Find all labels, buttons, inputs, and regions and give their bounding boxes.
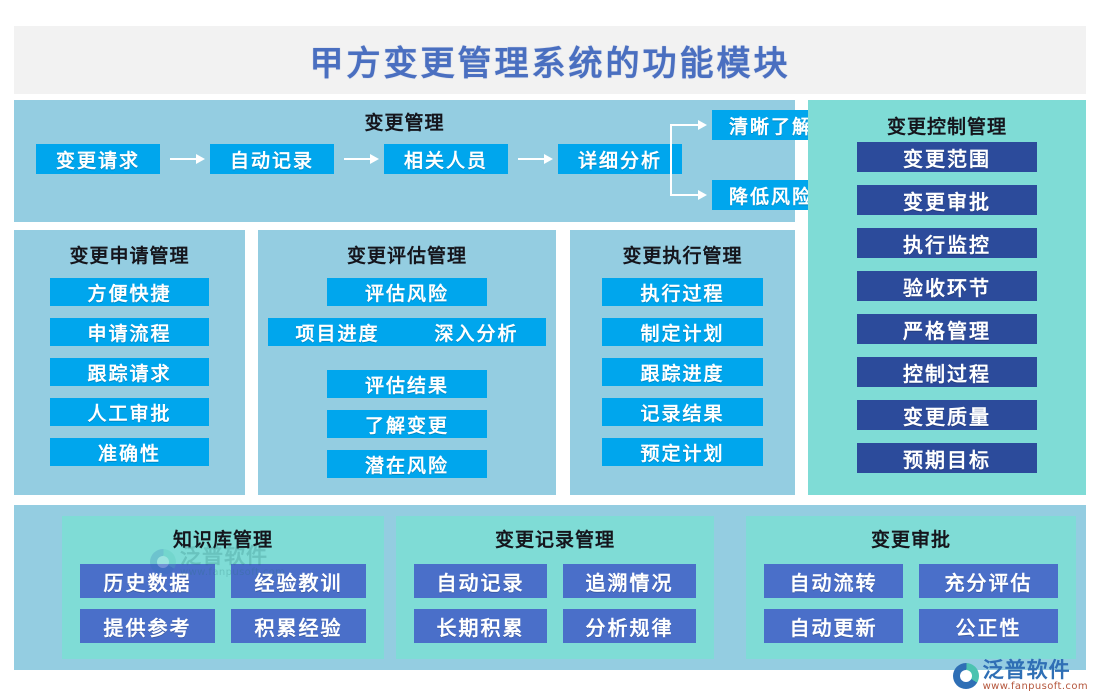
flow-arrow-1-head — [196, 154, 205, 164]
change-approval-panel: 变更审批 自动流转 充分评估 自动更新 公正性 — [746, 516, 1076, 659]
exec-item[interactable]: 执行过程 — [602, 278, 763, 306]
flow-arrow-3-line — [518, 158, 545, 160]
kb-item-grid: 历史数据 经验教训 提供参考 积累经验 — [80, 564, 366, 643]
kb-item[interactable]: 经验教训 — [231, 564, 366, 598]
bottom-band: 知识库管理 历史数据 经验教训 提供参考 积累经验 变更记录管理 自动记录 追溯… — [14, 505, 1086, 670]
exec-item-list: 执行过程 制定计划 跟踪进度 记录结果 预定计划 — [570, 278, 795, 478]
appr-item[interactable]: 自动流转 — [764, 564, 903, 598]
apply-item[interactable]: 准确性 — [50, 438, 209, 466]
change-request-panel: 变更申请管理 方便快捷 申请流程 跟踪请求 人工审批 准确性 — [14, 230, 245, 495]
watermark-url: www.fanpusoft.com — [983, 682, 1088, 692]
change-record-panel: 变更记录管理 自动记录 追溯情况 长期积累 分析规律 — [396, 516, 714, 659]
change-management-flow-panel: 变更管理 变更请求 自动记录 相关人员 详细分析 清晰了解 降低风险 — [14, 100, 795, 222]
control-panel-title: 变更控制管理 — [808, 112, 1086, 139]
flow-step-3[interactable]: 相关人员 — [384, 144, 508, 174]
control-item[interactable]: 预期目标 — [857, 443, 1037, 473]
branch-arrow-head-down — [698, 190, 707, 200]
appr-item[interactable]: 自动更新 — [764, 609, 903, 643]
control-item[interactable]: 执行监控 — [857, 228, 1037, 258]
kb-item[interactable]: 历史数据 — [80, 564, 215, 598]
apply-item[interactable]: 申请流程 — [50, 318, 209, 346]
branch-arrow-head-up — [698, 120, 707, 130]
change-assessment-panel: 变更评估管理 评估风险 项目进度 深入分析 评估结果 了解变更 潜在风险 — [258, 230, 556, 495]
rec-item[interactable]: 追溯情况 — [563, 564, 696, 598]
change-execution-panel: 变更执行管理 执行过程 制定计划 跟踪进度 记录结果 预定计划 — [570, 230, 795, 495]
branch-horizontal-down — [670, 194, 700, 196]
rec-item[interactable]: 分析规律 — [563, 609, 696, 643]
assess-panel-title: 变更评估管理 — [258, 230, 556, 268]
assess-item[interactable]: 潜在风险 — [327, 450, 487, 478]
title-band: 甲方变更管理系统的功能模块 — [14, 26, 1086, 94]
infographic-canvas: 甲方变更管理系统的功能模块 变更管理 变更请求 自动记录 相关人员 详细分析 清… — [0, 0, 1100, 700]
control-item[interactable]: 验收环节 — [857, 271, 1037, 301]
knowledge-base-panel: 知识库管理 历史数据 经验教训 提供参考 积累经验 — [62, 516, 384, 659]
flow-arrow-2-head — [370, 154, 379, 164]
exec-item[interactable]: 制定计划 — [602, 318, 763, 346]
flow-arrow-2-line — [344, 158, 371, 160]
assess-item-split-left[interactable]: 项目进度 — [268, 318, 407, 346]
flow-step-1[interactable]: 变更请求 — [36, 144, 160, 174]
assess-item-split-right[interactable]: 深入分析 — [407, 318, 546, 346]
apply-item[interactable]: 方便快捷 — [50, 278, 209, 306]
flow-step-2[interactable]: 自动记录 — [210, 144, 334, 174]
apply-item[interactable]: 跟踪请求 — [50, 358, 209, 386]
control-item-list: 变更范围 变更审批 执行监控 验收环节 严格管理 控制过程 变更质量 预期目标 — [857, 142, 1037, 486]
kb-item[interactable]: 提供参考 — [80, 609, 215, 643]
exec-item[interactable]: 跟踪进度 — [602, 358, 763, 386]
appr-panel-title: 变更审批 — [746, 516, 1076, 552]
branch-horizontal-up — [670, 124, 700, 126]
branch-vertical-down — [670, 158, 672, 196]
exec-panel-title: 变更执行管理 — [570, 230, 795, 268]
rec-item[interactable]: 长期积累 — [414, 609, 547, 643]
kb-panel-title: 知识库管理 — [62, 516, 384, 552]
control-item[interactable]: 变更质量 — [857, 400, 1037, 430]
apply-panel-title: 变更申请管理 — [14, 230, 245, 268]
flow-panel-title: 变更管理 — [14, 108, 795, 135]
assess-item[interactable]: 评估风险 — [327, 278, 487, 306]
flow-arrow-3-head — [544, 154, 553, 164]
flow-step-4[interactable]: 详细分析 — [558, 144, 682, 174]
assess-split-row: 项目进度 深入分析 — [268, 318, 546, 358]
control-item[interactable]: 严格管理 — [857, 314, 1037, 344]
assess-item[interactable]: 评估结果 — [327, 370, 487, 398]
apply-item[interactable]: 人工审批 — [50, 398, 209, 426]
change-control-panel: 变更控制管理 变更范围 变更审批 执行监控 验收环节 严格管理 控制过程 变更质… — [808, 100, 1086, 495]
assess-item[interactable]: 了解变更 — [327, 410, 487, 438]
control-item[interactable]: 控制过程 — [857, 357, 1037, 387]
flow-row: 变更请求 自动记录 相关人员 详细分析 — [14, 144, 795, 178]
apply-item-list: 方便快捷 申请流程 跟踪请求 人工审批 准确性 — [14, 278, 245, 478]
appr-item-grid: 自动流转 充分评估 自动更新 公正性 — [764, 564, 1058, 643]
control-item[interactable]: 变更范围 — [857, 142, 1037, 172]
exec-item[interactable]: 记录结果 — [602, 398, 763, 426]
appr-item[interactable]: 充分评估 — [919, 564, 1058, 598]
rec-item[interactable]: 自动记录 — [414, 564, 547, 598]
rec-item-grid: 自动记录 追溯情况 长期积累 分析规律 — [414, 564, 696, 643]
flow-arrow-1-line — [170, 158, 197, 160]
rec-panel-title: 变更记录管理 — [396, 516, 714, 552]
appr-item[interactable]: 公正性 — [919, 609, 1058, 643]
page-title: 甲方变更管理系统的功能模块 — [310, 36, 791, 85]
assess-item-list: 评估风险 项目进度 深入分析 评估结果 了解变更 潜在风险 — [258, 278, 556, 490]
control-item[interactable]: 变更审批 — [857, 185, 1037, 215]
branch-vertical-up — [670, 124, 672, 160]
kb-item[interactable]: 积累经验 — [231, 609, 366, 643]
exec-item[interactable]: 预定计划 — [602, 438, 763, 466]
